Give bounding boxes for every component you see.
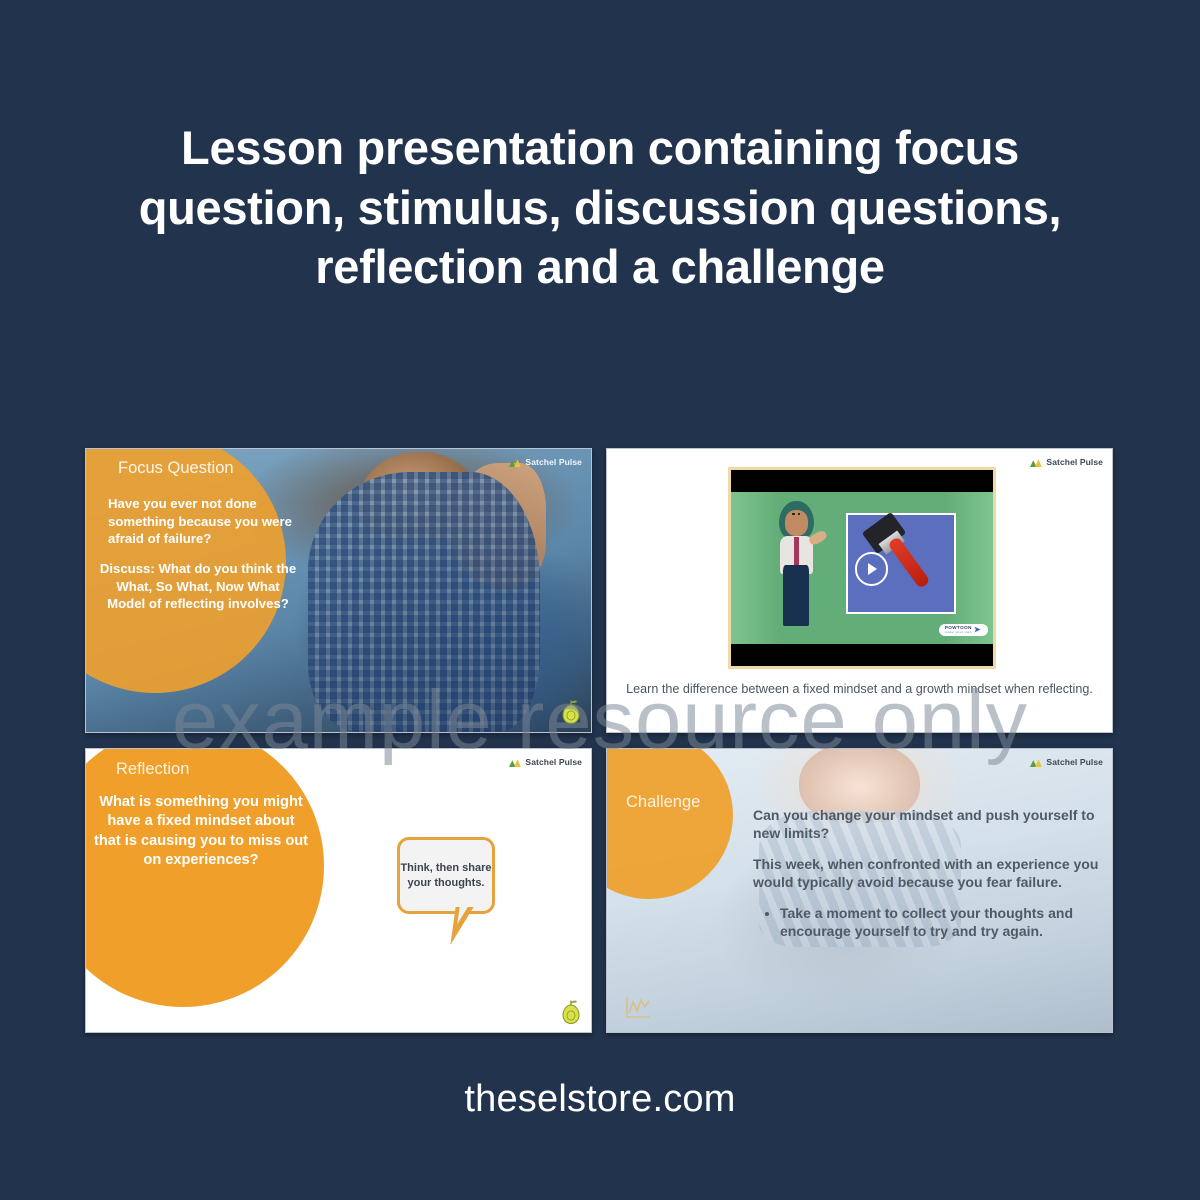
speech-bubble-tail [450, 907, 473, 945]
pear-icon [560, 999, 582, 1025]
play-icon[interactable] [855, 552, 889, 586]
paintbrush-handle [888, 537, 931, 590]
slide4-kicker: Challenge [626, 793, 700, 812]
slide-challenge[interactable]: Satchel Pulse Challenge Can you change y… [606, 748, 1113, 1033]
slide4-bullet-list: Take a moment to collect your thoughts a… [753, 905, 1102, 941]
slide4-body: Can you change your mindset and push you… [753, 807, 1102, 940]
line-chart-icon [623, 994, 653, 1022]
video-thumbnail[interactable]: POWTOON make your own ➤ [728, 467, 996, 669]
powtoon-badge: POWTOON make your own ➤ [939, 624, 988, 636]
slide3-question: What is something you might have a fixed… [92, 793, 310, 870]
list-item: Take a moment to collect your thoughts a… [780, 905, 1102, 941]
speech-bubble: Think, then share your thoughts. [397, 837, 495, 914]
satchel-pulse-logo: Satchel Pulse [509, 757, 582, 767]
page-title: Lesson presentation containing focus que… [0, 118, 1200, 297]
slide4-paragraph-1: Can you change your mindset and push you… [753, 807, 1102, 843]
brand-name: Satchel Pulse [1046, 457, 1103, 467]
orange-circle [85, 748, 324, 1007]
mountain-icon [1030, 758, 1042, 767]
presenter-eye-right [798, 513, 800, 514]
photo-head [359, 452, 480, 543]
animated-presenter [776, 501, 818, 629]
slide-stimulus-video[interactable]: Satchel Pulse [606, 448, 1113, 733]
mountain-icon [509, 458, 521, 467]
footer-url: theselstore.com [0, 1078, 1200, 1121]
satchel-pulse-logo: Satchel Pulse [509, 457, 582, 467]
speech-bubble-text: Think, then share your thoughts. [400, 861, 492, 891]
slide2-caption: Learn the difference between a fixed min… [607, 681, 1112, 697]
pear-icon [560, 699, 582, 725]
slide-focus-question[interactable]: Satchel Pulse Focus Question Have you ev… [85, 448, 592, 733]
slide4-paragraph-2: This week, when confronted with an exper… [753, 856, 1102, 892]
video-inner-panel [846, 513, 956, 613]
presenter-face [785, 510, 808, 536]
mountain-icon [509, 758, 521, 767]
video-scene: POWTOON make your own ➤ [731, 492, 993, 644]
presenter-tie [794, 537, 799, 568]
mountain-icon [1030, 458, 1042, 467]
slide1-question: Have you ever not done something because… [98, 495, 298, 548]
promo-graphic: Lesson presentation containing focus que… [0, 0, 1200, 1200]
slide3-kicker: Reflection [116, 760, 189, 779]
slide-reflection[interactable]: Satchel Pulse Reflection What is somethi… [85, 748, 592, 1033]
brand-name: Satchel Pulse [525, 757, 582, 767]
satchel-pulse-logo: Satchel Pulse [1030, 757, 1103, 767]
slide1-body: Have you ever not done something because… [98, 495, 298, 625]
powtoon-arrow-icon: ➤ [974, 626, 981, 634]
photo-arm [450, 463, 546, 588]
slide1-discuss: Discuss: What do you think the What, So … [98, 560, 298, 613]
satchel-pulse-logo: Satchel Pulse [1030, 457, 1103, 467]
slide-gallery: Satchel Pulse Focus Question Have you ev… [85, 448, 1115, 1034]
brand-name: Satchel Pulse [525, 457, 582, 467]
presenter-eye-left [792, 513, 794, 514]
slide1-kicker: Focus Question [118, 459, 234, 478]
presenter-trousers [783, 565, 809, 626]
brand-name: Satchel Pulse [1046, 757, 1103, 767]
powtoon-sublabel: make your own [945, 631, 972, 634]
